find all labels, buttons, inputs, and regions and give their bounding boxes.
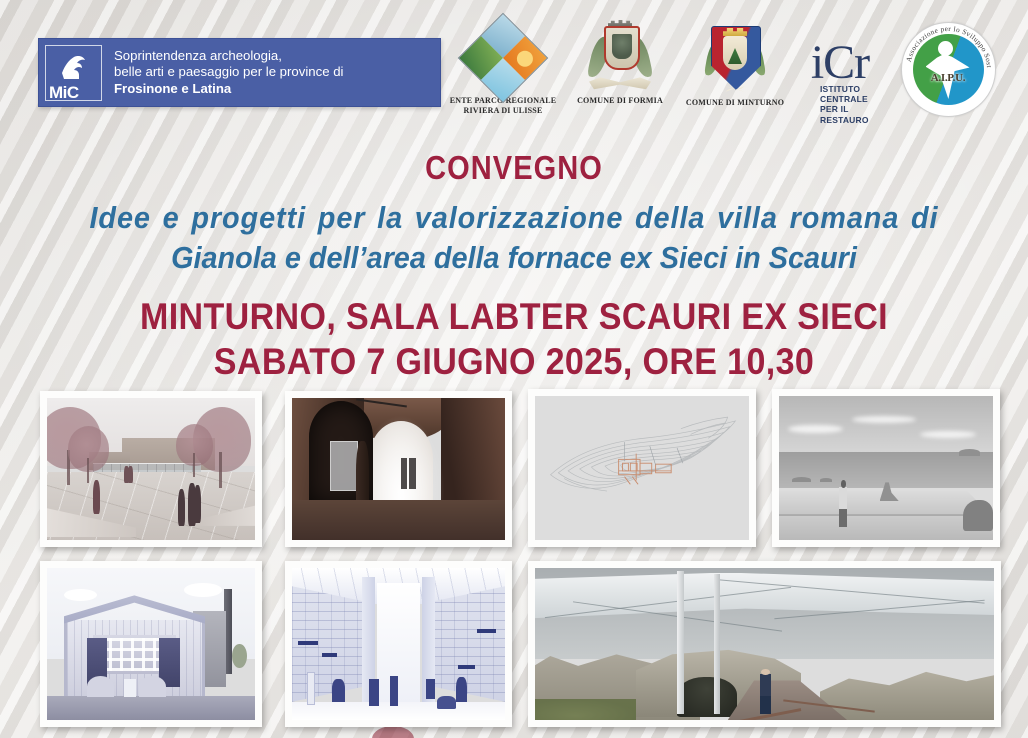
icr-caption-line-3: PER IL RESTAURO	[820, 104, 890, 124]
archaeological-site-contour-plan-image	[535, 396, 749, 540]
soprintendenza-line-2: belle arti e paesaggio per le province d…	[114, 64, 343, 80]
event-datetime: SABATO 7 GIUGNO 2025, ORE 10,30	[41, 339, 987, 384]
parco-rhombus-icon	[458, 13, 549, 104]
icr-caption-line-2: CENTRALE	[820, 94, 890, 104]
minturno-caption: COMUNE DI MINTURNO	[681, 98, 789, 107]
soprintendenza-line-3: Frosinone e Latina	[114, 81, 343, 97]
comune-di-formia-logo: COMUNE DI FORMIA	[562, 22, 678, 105]
museum-plaza-exterior-rendering-image	[47, 398, 255, 540]
event-venue-datetime: MINTURNO, SALA LABTER SCAURI EX SIECI SA…	[41, 294, 987, 384]
ministero-cultura-soprintendenza-logo: MiC Soprintendenza archeologia, belle ar…	[38, 38, 441, 107]
event-subtitle-line-2: Gianola e dell’area della fornace ex Sie…	[72, 238, 956, 278]
logo-bar: MiC Soprintendenza archeologia, belle ar…	[0, 0, 1028, 150]
event-subtitle-line-1: Idee e progetti per la valorizzazione de…	[72, 198, 956, 238]
fornace-hall-cross-section-image	[47, 568, 255, 720]
event-venue: MINTURNO, SALA LABTER SCAURI EX SIECI	[41, 294, 987, 339]
gallery-item-roman-villa-ruins-under-canopy	[528, 561, 1001, 727]
vaulted-brick-corridor-rendering-image	[292, 398, 505, 540]
aipu-circular-emblem-icon: Associazione per lo Sviluppo Sostenibile…	[901, 22, 996, 117]
istituto-centrale-restauro-logo: iCr ISTITUTO CENTRALE PER IL RESTAURO	[790, 30, 890, 125]
mic-emblem-icon: MiC	[45, 45, 102, 101]
archive-storage-hall-interior-image	[292, 568, 505, 720]
soprintendenza-text: Soprintendenza archeologia, belle arti e…	[114, 48, 343, 97]
seaside-terrace-photomontage-image	[779, 396, 993, 540]
ente-parco-regionale-logo: ENTE PARCO REGIONALE RIVIERA DI ULISSE	[447, 26, 559, 116]
aipu-acronym: A.I.P.U.	[902, 72, 995, 84]
svg-text:Associazione per lo Sviluppo S: Associazione per lo Sviluppo Sostenibile	[902, 23, 993, 68]
gallery-item-archaeological-site-contour-plan	[528, 389, 756, 547]
roman-villa-ruins-under-canopy-image	[535, 568, 994, 720]
icr-caption-line-1: ISTITUTO	[820, 84, 890, 94]
headings-block: CONVEGNO Idee e progetti per la valorizz…	[0, 150, 1028, 384]
gallery-item-vaulted-brick-corridor-rendering	[285, 391, 512, 547]
gallery-item-museum-plaza-exterior-rendering	[40, 391, 262, 547]
event-subtitle: Idee e progetti per la valorizzazione de…	[72, 198, 956, 277]
formia-crest-icon	[591, 22, 649, 94]
mic-wordmark: MiC	[49, 84, 79, 101]
minturno-crest-icon	[707, 22, 763, 96]
kicker-convegno: CONVEGNO	[62, 150, 967, 186]
gallery-item-archive-storage-hall-interior	[285, 561, 512, 727]
gallery-item-fornace-hall-cross-section	[40, 561, 262, 727]
icr-wordmark: iCr	[790, 30, 890, 84]
poster-root: MiC Soprintendenza archeologia, belle ar…	[0, 0, 1028, 738]
formia-caption: COMUNE DI FORMIA	[562, 96, 678, 105]
gallery-item-seaside-terrace-photomontage	[772, 389, 1000, 547]
parco-caption-line-2: RIVIERA DI ULISSE	[447, 106, 559, 116]
aipu-logo: Associazione per lo Sviluppo Sostenibile…	[896, 22, 1000, 117]
soprintendenza-line-1: Soprintendenza archeologia,	[114, 48, 343, 64]
comune-di-minturno-logo: COMUNE DI MINTURNO	[681, 22, 789, 107]
